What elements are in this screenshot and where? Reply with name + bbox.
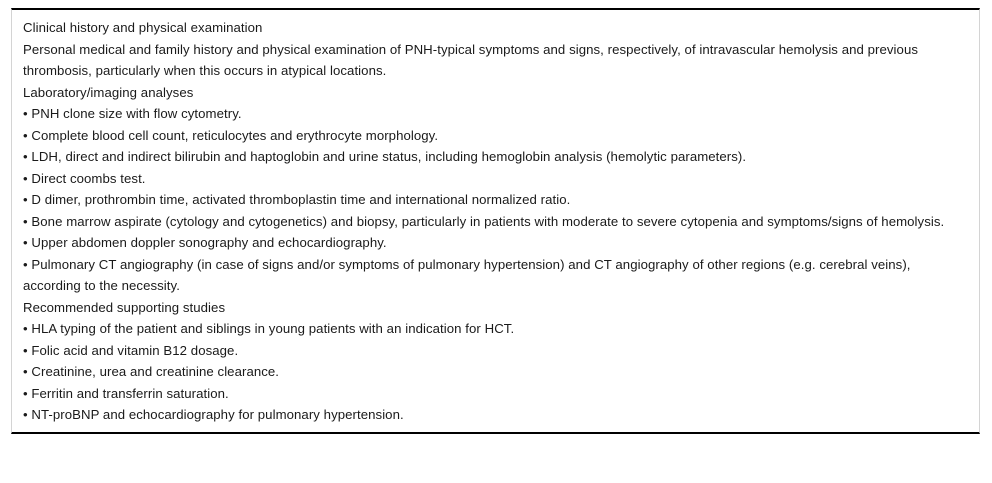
list-item: • NT-proBNP and echocardiography for pul… [23, 404, 969, 426]
list-item: • LDH, direct and indirect bilirubin and… [23, 146, 969, 168]
section-laboratory-imaging: Laboratory/imaging analyses • PNH clone … [23, 82, 969, 297]
list-item: • Folic acid and vitamin B12 dosage. [23, 340, 969, 362]
list-item: • D dimer, prothrombin time, activated t… [23, 189, 969, 211]
list-item: • HLA typing of the patient and siblings… [23, 318, 969, 340]
page-root: Clinical history and physical examinatio… [0, 0, 992, 483]
list-item: • Upper abdomen doppler sonography and e… [23, 232, 969, 254]
list-item: • Complete blood cell count, reticulocyt… [23, 125, 969, 147]
section-heading-recommended-supporting-studies: Recommended supporting studies [23, 297, 969, 319]
list-item: • Pulmonary CT angiography (in case of s… [23, 254, 969, 297]
list-item: • PNH clone size with flow cytometry. [23, 103, 969, 125]
list-item: • Bone marrow aspirate (cytology and cyt… [23, 211, 969, 233]
section-heading-laboratory-imaging: Laboratory/imaging analyses [23, 82, 969, 104]
section-recommended-supporting-studies: Recommended supporting studies • HLA typ… [23, 297, 969, 426]
list-item: • Direct coombs test. [23, 168, 969, 190]
section-clinical-history: Clinical history and physical examinatio… [23, 17, 969, 82]
panel-body: Clinical history and physical examinatio… [12, 17, 979, 426]
list-item: • Creatinine, urea and creatinine cleara… [23, 361, 969, 383]
section-paragraph-clinical-history: Personal medical and family history and … [23, 39, 969, 82]
list-item: • Ferritin and transferrin saturation. [23, 383, 969, 405]
section-heading-clinical-history: Clinical history and physical examinatio… [23, 17, 969, 39]
diagnostic-workup-panel: Clinical history and physical examinatio… [11, 8, 980, 434]
